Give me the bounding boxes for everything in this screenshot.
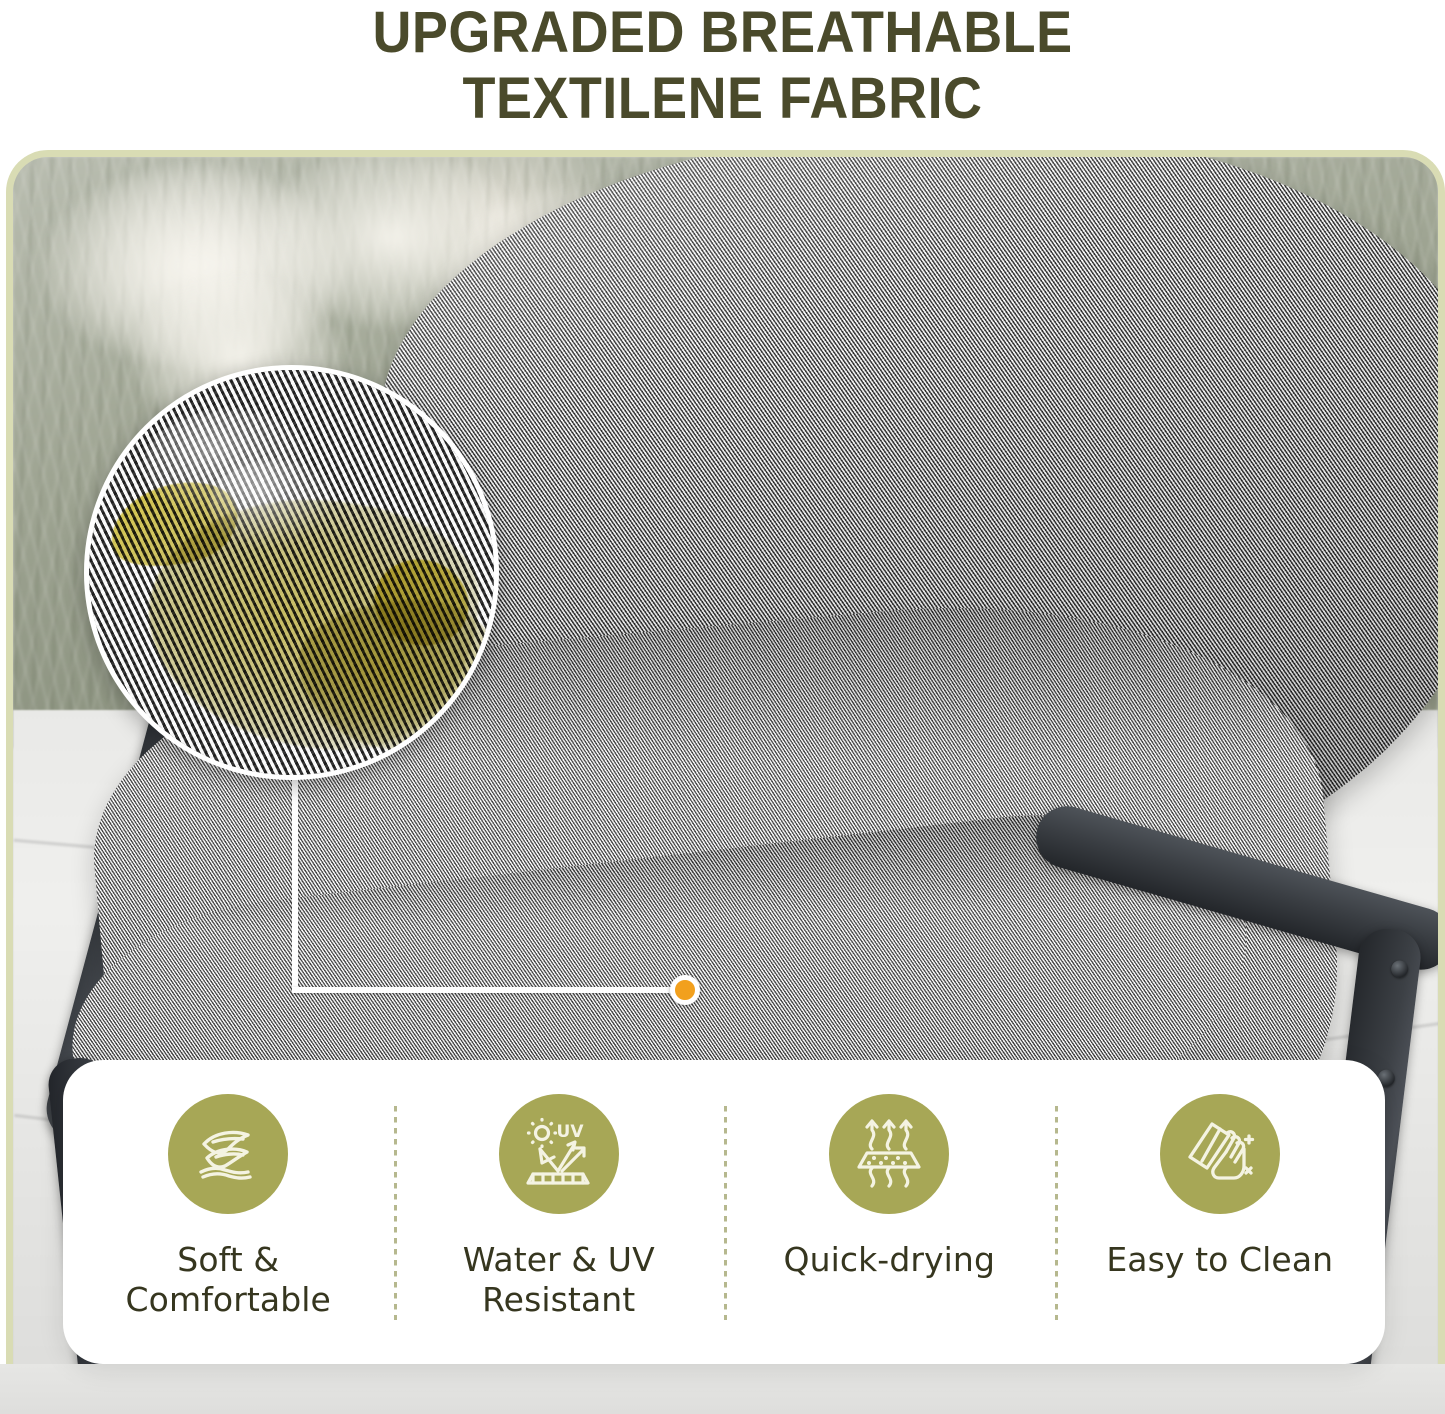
feature-label-line2: Comfortable <box>126 1280 331 1319</box>
feature-label-line1: Quick-drying <box>784 1240 996 1279</box>
frame-rivet <box>1390 960 1409 979</box>
feature-label-line2: Resistant <box>482 1280 635 1319</box>
feature-label: Quick-drying <box>784 1240 996 1280</box>
page-title: UPGRADED BREATHABLE TEXTILENE FABRIC <box>51 0 1395 132</box>
quick-drying-airflow-icon <box>829 1094 949 1214</box>
feature-label: Soft & Comfortable <box>126 1240 331 1320</box>
feature-label-line1: Soft & <box>177 1240 279 1279</box>
callout-leader-horizontal <box>292 987 688 993</box>
feature-water-uv-resistant[interactable]: UV Water & UV Resistant <box>394 1060 725 1364</box>
product-feature-image: UPGRADED BREATHABLE TEXTILENE FABRIC <box>0 0 1445 1414</box>
headline-line-2: TEXTILENE FABRIC <box>51 66 1395 132</box>
svg-text:UV: UV <box>556 1122 584 1142</box>
feature-soft-comfortable[interactable]: Soft & Comfortable <box>63 1060 394 1364</box>
callout-leader-vertical <box>292 757 298 993</box>
feature-benefits-card: Soft & Comfortable UV <box>63 1060 1385 1364</box>
feature-label-line1: Water & UV <box>463 1240 655 1279</box>
feature-label-line1: Easy to Clean <box>1106 1240 1333 1279</box>
feature-easy-to-clean[interactable]: Easy to Clean <box>1055 1060 1386 1364</box>
sponge-wipe-clean-icon <box>1160 1094 1280 1214</box>
patio-floor-strip <box>0 1364 1445 1414</box>
feature-label: Easy to Clean <box>1106 1240 1333 1280</box>
droplet-sheen <box>209 460 339 550</box>
hand-holding-feather-icon <box>168 1094 288 1214</box>
feature-quick-drying[interactable]: Quick-drying <box>724 1060 1055 1364</box>
sun-uv-water-resistant-icon: UV <box>499 1094 619 1214</box>
feature-label: Water & UV Resistant <box>463 1240 655 1320</box>
magnifier-callout-circle <box>84 365 499 780</box>
callout-point-dot <box>670 975 700 1005</box>
headline-line-1: UPGRADED BREATHABLE <box>51 0 1395 66</box>
